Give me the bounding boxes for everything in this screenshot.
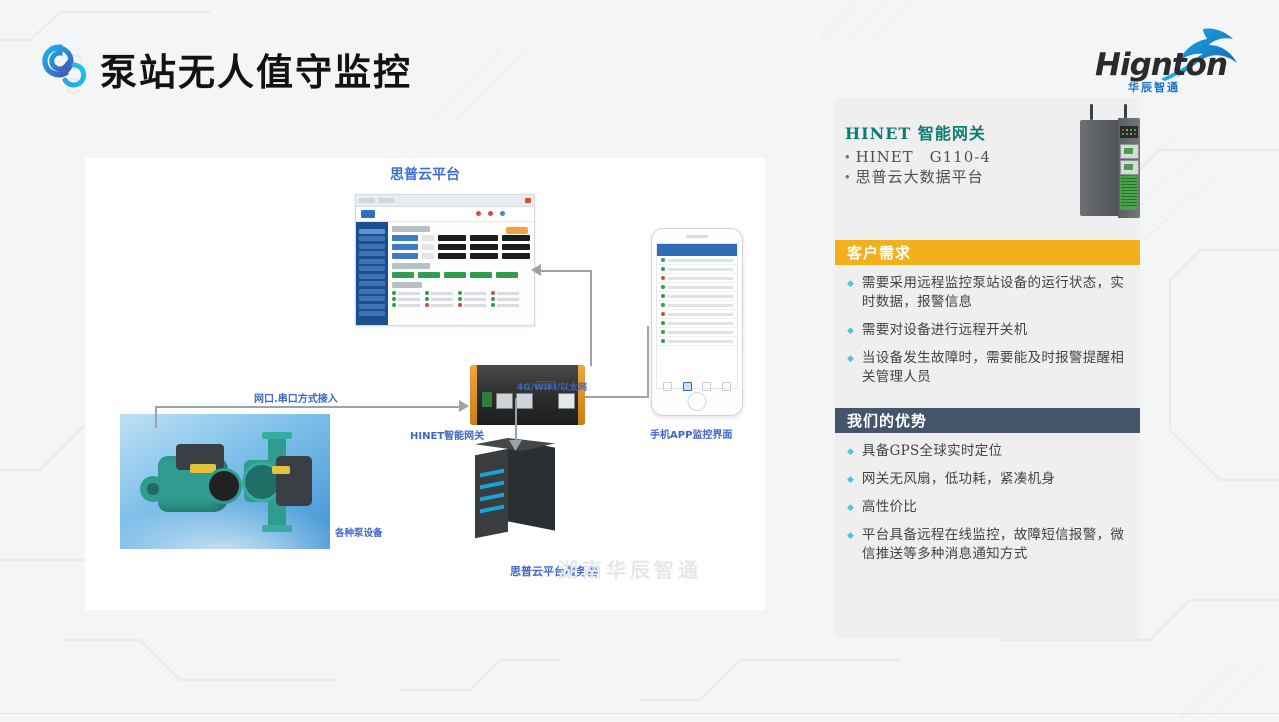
list-item: ◆ 高性价比 — [847, 498, 1126, 517]
label-network: 4G/WIFI/以太网 — [517, 380, 587, 393]
list-item-label: 平台具备远程在线监控，故障短信报警，微信推送等多种消息通知方式 — [862, 526, 1126, 564]
diamond-bullet-icon: ◆ — [847, 349, 854, 367]
corporate-logo: Hignton 华辰智通 — [1095, 27, 1239, 97]
label-cloud-platform: 思普云平台 — [390, 164, 460, 184]
arrowhead-server — [509, 440, 522, 451]
connector-pump-to-gateway-h — [155, 406, 465, 408]
server-illustration — [475, 443, 555, 535]
list-item: ◆ 具备GPS全球实时定位 — [847, 442, 1126, 461]
list-item-label: 高性价比 — [862, 498, 917, 517]
section-header-customer-needs: 客户需求 — [835, 240, 1140, 265]
section-our-advantages: 我们的优势 ◆ 具备GPS全球实时定位 ◆ 网关无风扇，低功耗，紧凑机身 ◆ 高… — [835, 408, 1140, 574]
corp-subwordmark: 华辰智通 — [1128, 79, 1180, 95]
list-item: ◆ 当设备发生故障时，需要能及时报警提醒相关管理人员 — [847, 349, 1126, 387]
arrowhead-gateway — [459, 400, 471, 412]
connector-cloud-h — [537, 270, 591, 272]
connector-gateway-to-cloud-v — [590, 270, 592, 366]
arrowhead-cloud — [529, 264, 541, 276]
label-server: 思普云平台服务器 — [510, 563, 598, 579]
label-gateway: HINET智能网关 — [410, 427, 484, 442]
diamond-bullet-icon: ◆ — [847, 274, 854, 292]
bullet-dot-icon: • — [845, 168, 850, 186]
connector-gateway-to-phone-h — [585, 396, 649, 398]
diamond-bullet-icon: ◆ — [847, 526, 854, 544]
page-title: 泵站无人值守监控 — [100, 42, 412, 96]
gateway-device-illustration — [470, 365, 585, 425]
list-item-label: 需要对设备进行远程开关机 — [862, 321, 1028, 340]
architecture-diagram: 思普云平台 — [85, 158, 765, 610]
hinet-item-label: HINET G110-4 — [856, 148, 991, 167]
hinet-product-block: HINET 智能网关 • HINET G110-4 • 思普云大数据平台 — [845, 120, 1145, 188]
connector-gateway-to-phone-v — [647, 326, 649, 397]
list-item-label: 当设备发生故障时，需要能及时报警提醒相关管理人员 — [862, 349, 1126, 387]
label-access-method: 网口.串口方式接入 — [254, 390, 338, 405]
corp-wordmark: Hignton — [1095, 50, 1227, 81]
section-customer-needs: 客户需求 ◆ 需要采用远程监控泵站设备的运行状态，实时数据，报警信息 ◆ 需要对… — [835, 240, 1140, 397]
cloud-platform-screenshot — [355, 194, 535, 326]
section-header-our-advantages: 我们的优势 — [835, 408, 1140, 433]
list-item: ◆ 需要对设备进行远程开关机 — [847, 321, 1126, 340]
footer-divider — [0, 713, 1279, 714]
diamond-bullet-icon: ◆ — [847, 470, 854, 488]
hinet-item-label: 思普云大数据平台 — [856, 168, 984, 187]
diamond-bullet-icon: ◆ — [847, 498, 854, 516]
bullet-dot-icon: • — [845, 148, 850, 166]
diamond-bullet-icon: ◆ — [847, 321, 854, 339]
diamond-bullet-icon: ◆ — [847, 442, 854, 460]
label-pump-equipment: 各种泵设备 — [335, 525, 383, 539]
list-item-label: 网关无风扇，低功耗，紧凑机身 — [862, 470, 1055, 489]
list-item-label: 需要采用远程监控泵站设备的运行状态，实时数据，报警信息 — [862, 274, 1126, 312]
connector-cloud-to-server-v — [515, 398, 517, 444]
list-item: ◆ 平台具备远程在线监控，故障短信报警，微信推送等多种消息通知方式 — [847, 526, 1126, 564]
label-mobile-app: 手机APP监控界面 — [650, 426, 732, 441]
connector-pump-to-gateway-v — [155, 406, 157, 428]
list-item: ◆ 需要采用远程监控泵站设备的运行状态，实时数据，报警信息 — [847, 274, 1126, 312]
mobile-app-screenshot — [651, 228, 743, 416]
list-item: ◆ 网关无风扇，低功耗，紧凑机身 — [847, 470, 1126, 489]
industrial-gateway-device-icon — [1074, 108, 1146, 220]
pump-equipment-photo — [120, 414, 330, 549]
list-item-label: 具备GPS全球实时定位 — [862, 442, 1002, 461]
slide-header: 泵站无人值守监控 Hignton 华辰智通 — [0, 0, 1279, 118]
dual-circle-logo-icon — [36, 41, 90, 93]
